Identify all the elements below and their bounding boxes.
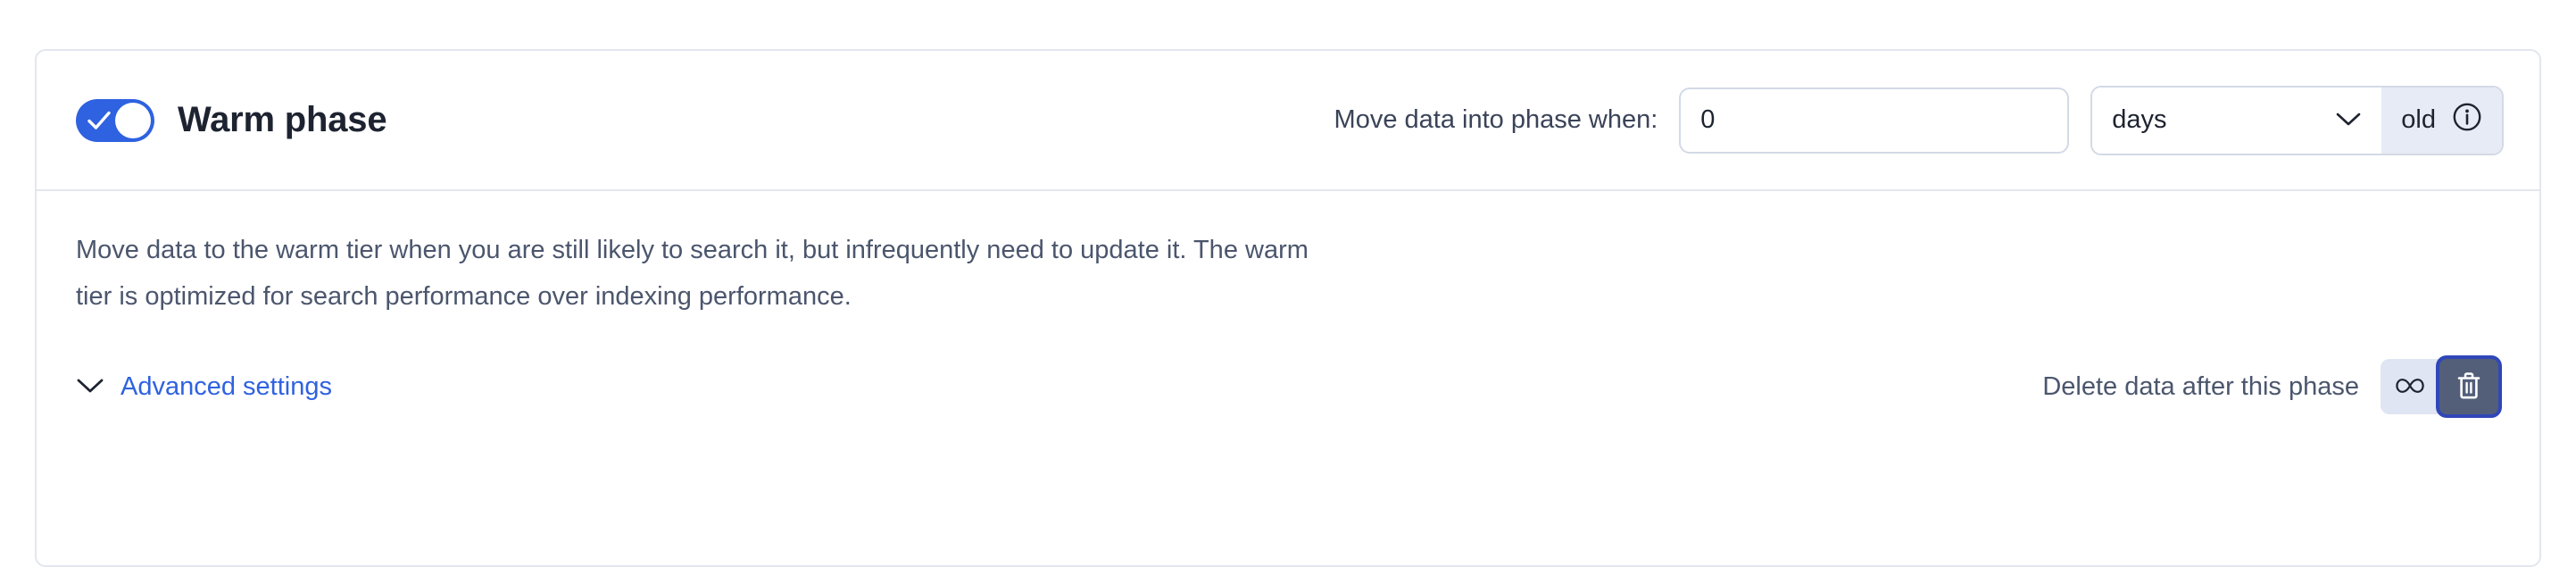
phase-bottom-row: Advanced settings Delete data after this…: [76, 359, 2500, 414]
phase-body: Move data to the warm tier when you are …: [37, 191, 2539, 414]
warm-phase-card: Warm phase Move data into phase when: da…: [35, 49, 2541, 567]
min-age-input[interactable]: [1679, 88, 2069, 154]
phase-header: Warm phase Move data into phase when: da…: [37, 51, 2539, 191]
check-icon: [87, 110, 111, 131]
phase-header-right: Move data into phase when: days old: [1334, 86, 2504, 155]
chevron-down-icon: [76, 377, 104, 397]
keep-forever-button[interactable]: [2381, 359, 2439, 414]
min-age-unit-select[interactable]: days: [2092, 88, 2381, 154]
page-title: Warm phase: [178, 100, 386, 140]
chevron-down-icon: [2335, 105, 2362, 135]
phase-description: Move data to the warm tier when you are …: [76, 227, 1325, 320]
phase-header-left: Warm phase: [76, 99, 386, 142]
min-age-append: old: [2381, 88, 2502, 154]
min-age-append-label: old: [2401, 105, 2436, 135]
min-age-unit-group: days old: [2090, 86, 2504, 155]
delete-data-button[interactable]: [2439, 359, 2498, 414]
warm-phase-toggle[interactable]: [76, 99, 154, 142]
infinity-icon: [2395, 377, 2425, 397]
min-age-label: Move data into phase when:: [1334, 105, 1658, 135]
advanced-settings-toggle[interactable]: Advanced settings: [76, 372, 332, 402]
trash-icon: [2456, 371, 2482, 404]
min-age-unit-value: days: [2112, 105, 2166, 135]
retention-button-group: [2381, 359, 2498, 414]
advanced-settings-label: Advanced settings: [120, 372, 332, 402]
delete-data-label: Delete data after this phase: [2042, 372, 2359, 402]
retention-controls: Delete data after this phase: [2042, 359, 2498, 414]
toggle-knob: [115, 103, 151, 138]
info-circle-icon[interactable]: [2452, 102, 2482, 139]
